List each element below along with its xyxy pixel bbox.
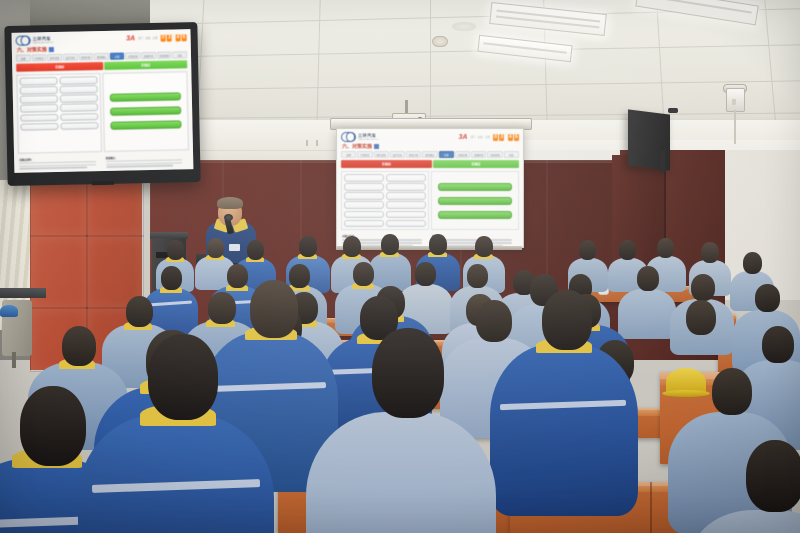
step-item: 设定目标 — [390, 151, 405, 158]
countdown-timer: 0 3 : 4 6 — [493, 134, 519, 141]
header-label: 日期 — [485, 135, 490, 139]
step-item: 总结 — [172, 51, 187, 58]
footer-line — [19, 167, 87, 170]
badge-3a: 3A — [126, 35, 135, 42]
timer-digit: 0 — [161, 34, 166, 41]
hardhat-blue — [0, 305, 18, 317]
slide-header-right: 3A 部门 班组 日期 0 3 : 4 6 — [458, 134, 519, 141]
step-item: 计划拟定 — [357, 151, 372, 158]
timer-digit: 4 — [175, 34, 180, 41]
ceiling-vent — [452, 22, 476, 31]
slide-body — [337, 168, 523, 233]
slide-title-row: 六、对策实施 — [337, 143, 523, 150]
slide-header-labels: 部门 班组 日期 — [138, 36, 158, 40]
slide-content-projected: 三环汽车 SANHUAN AUTO 3A 部门 班组 日期 0 3 : — [337, 129, 523, 247]
logo-mark-icon — [341, 132, 356, 142]
slide-pill-column — [386, 174, 426, 227]
soffit-screw — [306, 140, 308, 146]
step-item-active: 对策 — [439, 151, 454, 158]
step-item: 巩固措施 — [157, 52, 172, 59]
section-bar-after: 实施后 — [433, 160, 519, 168]
slide-green-pill — [110, 93, 181, 102]
step-item: 效果检查 — [471, 151, 486, 158]
step-item: 效果检查 — [141, 52, 156, 59]
slide-pill-column — [60, 76, 100, 149]
wall-mounted-tv[interactable]: 三环汽车 SANHUAN AUTO 3A 部门 班组 日期 0 — [4, 22, 200, 186]
presenter-badge — [229, 244, 240, 251]
chair-leg — [12, 352, 16, 368]
tv-mount — [92, 181, 114, 185]
company-logo: 三环汽车 SANHUAN AUTO — [16, 35, 54, 46]
column-cap — [30, 0, 150, 26]
slide-step-bar: 选题 计划拟定 现状调查 设定目标 原因分析 要因确认 对策 对策实施 效果检查… — [337, 150, 523, 160]
slide-header-labels: 部门 班组 日期 — [470, 135, 490, 139]
slide-pill — [344, 201, 384, 209]
timer-digit: 3 — [499, 134, 504, 141]
slide-footer: 关键点说明： 效果确认： — [14, 153, 193, 173]
footer-block: 关键点说明： — [19, 156, 102, 170]
slide-pill — [386, 201, 426, 209]
step-item-active: 对策 — [110, 53, 125, 60]
step-item: 总结 — [504, 151, 519, 158]
slide-content-tv: 三环汽车 SANHUAN AUTO 3A 部门 班组 日期 0 — [11, 29, 193, 173]
slide-body — [12, 68, 193, 156]
slide-pill — [386, 174, 426, 182]
speaker-mount — [660, 150, 665, 172]
slide-header-right: 3A 部门 班组 日期 0 3 : 4 6 — [126, 34, 187, 42]
slide-right-grid — [103, 71, 189, 151]
step-item: 设定目标 — [63, 54, 78, 61]
slide-pill-column — [344, 174, 384, 227]
timer-digit: 4 — [508, 134, 513, 141]
timer-digit: 3 — [167, 34, 172, 41]
step-item: 选题 — [341, 151, 356, 158]
slide-pill — [20, 104, 58, 112]
soffit-screw — [316, 140, 318, 146]
step-item: 选题 — [16, 54, 31, 61]
hardhat-brim — [662, 390, 710, 397]
slide-pill — [19, 77, 57, 85]
slide-right-grid — [431, 171, 519, 230]
presenter-hair — [217, 197, 243, 209]
footer-block: 效果确认： — [106, 154, 189, 168]
slide-pill-column — [19, 77, 59, 150]
slide-pill — [20, 123, 58, 131]
smoke-detector-icon — [432, 36, 448, 47]
slide-pill — [344, 211, 384, 219]
slide-green-pill — [438, 211, 512, 219]
projection-screen[interactable]: 三环汽车 SANHUAN AUTO 3A 部门 班组 日期 0 3 : — [336, 128, 524, 248]
logo-subtext: SANHUAN AUTO — [358, 139, 379, 141]
microphone-head-icon — [224, 214, 233, 221]
header-label: 班组 — [478, 135, 483, 139]
side-table — [0, 288, 46, 298]
intercom-button[interactable] — [732, 99, 736, 105]
meeting-room-photo: 三环汽车 SANHUAN AUTO 3A 部门 班组 日期 0 — [0, 0, 800, 533]
header-label: 日期 — [152, 36, 157, 40]
slide-pill — [20, 86, 58, 94]
section-bar-before: 实施前 — [341, 160, 432, 168]
slide-pill — [60, 76, 98, 84]
timer-digit: 6 — [181, 34, 186, 41]
step-item: 现状调查 — [374, 151, 389, 158]
slide-green-pill — [111, 121, 182, 130]
footer-line — [106, 165, 174, 168]
timer-digit: 0 — [493, 134, 498, 141]
slide-pill — [344, 183, 384, 191]
speaker-bracket — [668, 108, 678, 113]
step-item: 要因确认 — [422, 151, 437, 158]
timer-separator: : — [173, 34, 175, 41]
slide-left-grid — [341, 171, 429, 230]
slide-green-pill — [111, 107, 182, 116]
step-item: 计划拟定 — [32, 54, 47, 61]
title-marker-icon — [49, 47, 54, 52]
step-item: 现状调查 — [47, 54, 62, 61]
header-label: 班组 — [145, 36, 150, 40]
slide-pill — [386, 192, 426, 200]
slide-section-bars: 实施前 实施后 — [337, 160, 523, 168]
timer-digit: 6 — [514, 134, 519, 141]
badge-3a: 3A — [458, 134, 467, 141]
title-marker-icon — [374, 144, 379, 149]
step-item: 对策实施 — [455, 151, 470, 158]
step-item: 原因分析 — [406, 151, 421, 158]
slide-pill — [344, 192, 384, 200]
slide-pill — [20, 113, 58, 121]
phone-cord — [734, 110, 736, 144]
slide-pill — [61, 122, 99, 130]
company-logo: 三环汽车 SANHUAN AUTO — [341, 132, 379, 142]
header-label: 部门 — [138, 36, 143, 40]
step-item: 原因分析 — [78, 53, 93, 60]
slide-green-pill — [438, 197, 512, 205]
slide-header: 三环汽车 SANHUAN AUTO 3A 部门 班组 日期 0 3 : — [337, 129, 523, 143]
slide-pill — [344, 174, 384, 182]
slide-pill — [60, 104, 98, 112]
step-item: 对策实施 — [125, 52, 140, 59]
slide-pill — [60, 113, 98, 121]
step-item: 要因确认 — [94, 53, 109, 60]
tv-screen[interactable]: 三环汽车 SANHUAN AUTO 3A 部门 班组 日期 0 — [11, 29, 193, 173]
slide-title: 六、对策实施 — [342, 143, 372, 150]
slide-pill — [386, 183, 426, 191]
logo-mark-icon — [16, 35, 31, 45]
timer-separator: : — [505, 134, 506, 141]
slide-pill — [60, 85, 98, 93]
slide-pill — [20, 95, 58, 103]
logo-subtext: SANHUAN AUTO — [33, 42, 54, 44]
slide-pill — [344, 220, 384, 228]
slide-green-pill — [438, 183, 512, 191]
slide-pill — [60, 94, 98, 102]
slide-pill — [386, 220, 426, 228]
header-label: 部门 — [470, 135, 475, 139]
countdown-timer: 0 3 : 4 6 — [161, 34, 187, 42]
slide-pill — [386, 211, 426, 219]
slide-left-grid — [16, 73, 102, 153]
step-item: 巩固措施 — [487, 151, 502, 158]
